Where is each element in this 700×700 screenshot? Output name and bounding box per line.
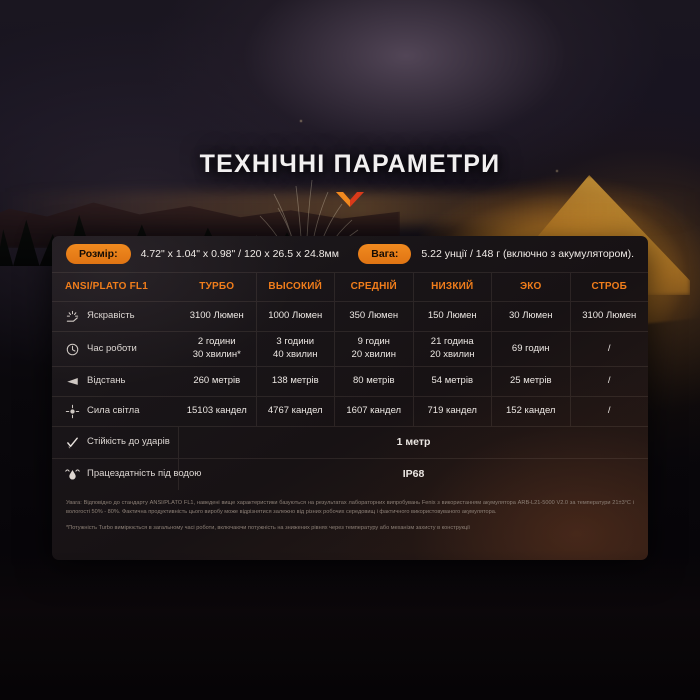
spec-panel: Розмір: 4.72" x 1.04" x 0.98" / 120 x 26… xyxy=(52,236,648,560)
footnote-turbo: *Потужність Turbo вимірюється в загально… xyxy=(66,524,634,533)
weight-label: Вага: xyxy=(358,244,411,264)
header-medium: СРЕДНІЙ xyxy=(334,273,413,301)
table-row-distance: Відстань 260 метрів 138 метрів 80 метрів… xyxy=(52,366,648,396)
cell-distance-strobe: / xyxy=(570,367,649,396)
bottom-fade xyxy=(0,550,700,700)
cell-brightness-medium: 350 Люмен xyxy=(334,302,413,331)
page-background: ТЕХНІЧНІ ПАРАМЕТРИ Розмір: 4.72" x 1.04"… xyxy=(0,0,700,700)
cell-runtime-medium: 9 годин 20 хвилин xyxy=(334,332,413,366)
runtime-line2: 30 хвилин* xyxy=(193,349,241,362)
cell-runtime-strobe: / xyxy=(570,332,649,366)
table-row-runtime: Час роботи 2 години 30 хвилин* 3 години … xyxy=(52,331,648,366)
row-label-text: Час роботи xyxy=(87,343,137,356)
cell-intensity-strobe: / xyxy=(570,397,649,426)
cell-distance-medium: 80 метрів xyxy=(334,367,413,396)
header-high: ВЫСОКИЙ xyxy=(256,273,335,301)
cell-distance-high: 138 метрів xyxy=(256,367,335,396)
clock-icon xyxy=(65,342,80,357)
spec-table: ANSI/PLATO FL1 ТУРБО ВЫСОКИЙ СРЕДНІЙ НИЗ… xyxy=(52,272,648,490)
impact-icon xyxy=(65,435,80,450)
runtime-line2: 20 хвилин xyxy=(430,349,474,362)
runtime-line1: 2 години xyxy=(198,336,236,349)
footnote-main: Увага: Відповідно до стандарту ANSI/PLAT… xyxy=(66,499,634,517)
cell-distance-turbo: 260 метрів xyxy=(178,367,256,396)
row-label-brightness: Яскравість xyxy=(52,302,178,331)
size-value: 4.72" x 1.04" x 0.98" / 120 x 26.5 x 24.… xyxy=(141,248,339,260)
cell-distance-eco: 25 метрів xyxy=(491,367,570,396)
footnotes: Увага: Відповідно до стандарту ANSI/PLAT… xyxy=(52,490,648,533)
cell-water-value: IP68 xyxy=(178,459,648,490)
row-label-impact: Стійкість до ударів xyxy=(52,427,178,458)
info-bar: Розмір: 4.72" x 1.04" x 0.98" / 120 x 26… xyxy=(52,236,648,272)
header-turbo: ТУРБО xyxy=(178,273,256,301)
row-label-text: Сила світла xyxy=(87,405,140,418)
cell-brightness-high: 1000 Люмен xyxy=(256,302,335,331)
header-ansi: ANSI/PLATO FL1 xyxy=(52,273,178,301)
cell-distance-low: 54 метрів xyxy=(413,367,492,396)
row-label-runtime: Час роботи xyxy=(52,332,178,366)
row-label-water: Працездатність під водою xyxy=(52,459,178,490)
cell-intensity-low: 719 кандел xyxy=(413,397,492,426)
cell-brightness-turbo: 3100 Люмен xyxy=(178,302,256,331)
cell-intensity-eco: 152 кандел xyxy=(491,397,570,426)
cell-runtime-high: 3 години 40 хвилин xyxy=(256,332,335,366)
cell-brightness-low: 150 Люмен xyxy=(413,302,492,331)
brightness-icon xyxy=(65,309,80,324)
cell-intensity-turbo: 15103 кандел xyxy=(178,397,256,426)
runtime-line1: 9 годин xyxy=(358,336,390,349)
row-label-text: Яскравість xyxy=(87,310,135,323)
header-eco: ЭКО xyxy=(491,273,570,301)
runtime-line1: 21 година xyxy=(431,336,474,349)
cell-runtime-turbo: 2 години 30 хвилин* xyxy=(178,332,256,366)
row-label-text: Відстань xyxy=(87,375,125,388)
size-info: Розмір: 4.72" x 1.04" x 0.98" / 120 x 26… xyxy=(66,244,358,264)
cell-brightness-strobe: 3100 Люмен xyxy=(570,302,649,331)
size-label: Розмір: xyxy=(66,244,131,264)
table-row-impact: Стійкість до ударів 1 метр xyxy=(52,426,648,458)
cell-runtime-eco: 69 годин xyxy=(491,332,570,366)
table-header-row: ANSI/PLATO FL1 ТУРБО ВЫСОКИЙ СРЕДНІЙ НИЗ… xyxy=(52,272,648,301)
runtime-line1: 3 години xyxy=(276,336,314,349)
spark xyxy=(300,120,302,122)
distance-icon xyxy=(65,374,80,389)
intensity-icon xyxy=(65,404,80,419)
runtime-line2: 20 хвилин xyxy=(352,349,396,362)
header-strobe: СТРОБ xyxy=(570,273,649,301)
runtime-line2: 40 хвилин xyxy=(273,349,317,362)
header-low: НИЗКИЙ xyxy=(413,273,492,301)
table-row-water: Працездатність під водою IP68 xyxy=(52,458,648,490)
title-block: ТЕХНІЧНІ ПАРАМЕТРИ xyxy=(0,150,700,213)
weight-value: 5.22 унції / 148 г (включно з акумулятор… xyxy=(421,248,634,260)
cell-runtime-low: 21 година 20 хвилин xyxy=(413,332,492,366)
page-title: ТЕХНІЧНІ ПАРАМЕТРИ xyxy=(0,150,700,179)
weight-info: Вага: 5.22 унції / 148 г (включно з акум… xyxy=(358,244,634,264)
table-row-intensity: Сила світла 15103 кандел 4767 кандел 160… xyxy=(52,396,648,426)
cell-brightness-eco: 30 Люмен xyxy=(491,302,570,331)
row-label-text: Стійкість до ударів xyxy=(87,436,170,449)
cell-intensity-high: 4767 кандел xyxy=(256,397,335,426)
chevron-down-icon xyxy=(335,191,365,208)
water-icon xyxy=(65,467,80,482)
row-label-intensity: Сила світла xyxy=(52,397,178,426)
row-label-distance: Відстань xyxy=(52,367,178,396)
table-row-brightness: Яскравість 3100 Люмен 1000 Люмен 350 Люм… xyxy=(52,301,648,331)
cell-impact-value: 1 метр xyxy=(178,427,648,458)
cell-intensity-medium: 1607 кандел xyxy=(334,397,413,426)
